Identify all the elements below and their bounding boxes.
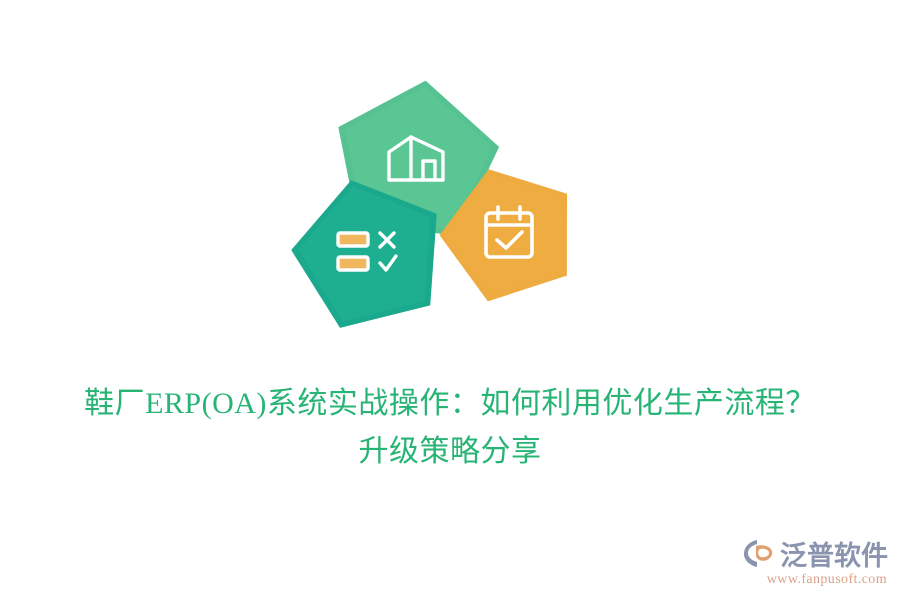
brand-url: www.fanpusoft.com [767, 572, 887, 588]
checklist-icon [294, 178, 444, 326]
banner-canvas: 鞋厂ERP(OA)系统实战操作：如何利用优化生产流程？ 升级策略分享 泛普软件 … [0, 0, 900, 600]
brand-lockup: 泛普软件 [743, 538, 888, 573]
pentagon-icon-cluster [290, 80, 590, 380]
brand-watermark: 泛普软件 www.fanpusoft.com [743, 538, 888, 588]
article-headline: 鞋厂ERP(OA)系统实战操作：如何利用优化生产流程？ 升级策略分享 [0, 380, 900, 476]
calendar-check-icon [442, 166, 576, 298]
headline-line-2: 升级策略分享 [0, 428, 900, 476]
pentagon-tasklist [278, 162, 459, 342]
headline-line-1: 鞋厂ERP(OA)系统实战操作：如何利用优化生产流程？ [0, 380, 900, 428]
fanpu-logo-icon [743, 538, 777, 573]
brand-name: 泛普软件 [780, 541, 888, 571]
